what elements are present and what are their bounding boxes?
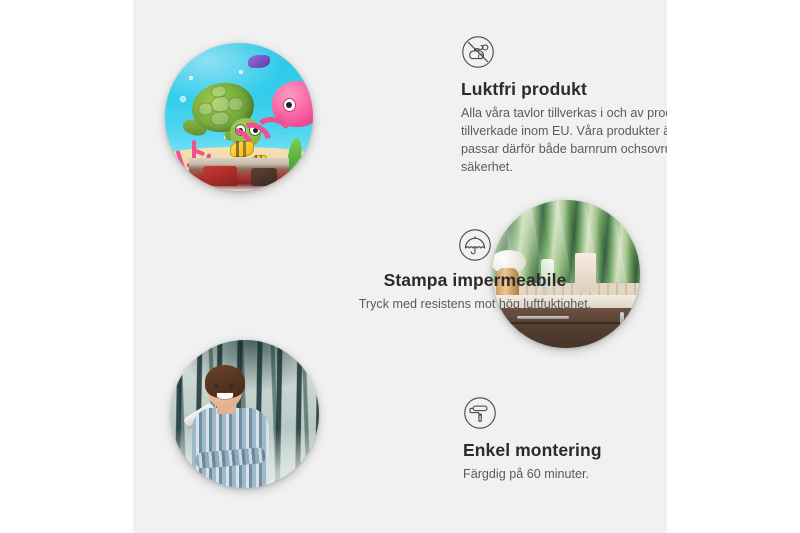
eye — [214, 384, 219, 387]
bubble-icon — [180, 96, 186, 102]
bubble-icon — [189, 76, 193, 80]
feature-assembly: Enkel montering Färgdig på 60 minuter. — [463, 396, 667, 484]
painter-forest-wallpaper-photo[interactable] — [171, 340, 319, 488]
screenshot-canvas: Luktfri produkt Alla våra tavlor tillver… — [0, 0, 800, 533]
feature-title: Enkel montering — [463, 440, 667, 461]
cabinet-handle — [620, 312, 625, 330]
feature-odourless: Luktfri produkt Alla våra tavlor tillver… — [461, 35, 667, 177]
striped-fish-icon — [230, 141, 254, 157]
feature-waterproof: Stampa impermeabile Tryck med resistens … — [345, 228, 605, 314]
eye — [229, 384, 234, 387]
feature-description: Färgdig på 60 minuter. — [463, 466, 667, 484]
feature-panel: Luktfri produkt Alla våra tavlor tillver… — [133, 0, 667, 533]
feature-title: Luktfri produkt — [461, 79, 667, 100]
room-inset-photo — [189, 158, 290, 191]
umbrella-icon — [458, 228, 492, 262]
paint-roller-icon — [463, 396, 497, 430]
feature-title: Stampa impermeabile — [345, 270, 605, 291]
underwater-cartoon-wallpaper-photo[interactable] — [165, 43, 313, 191]
octopus-eye — [283, 98, 296, 112]
wooden-vanity — [495, 308, 640, 348]
drawer-handle — [517, 316, 569, 319]
feature-description: Alla våra tavlor tillverkas i och av pro… — [461, 105, 667, 177]
forest-canopy — [171, 340, 319, 402]
no-perfume-icon — [461, 35, 495, 69]
feature-description: Tryck med resistens mot hög luftfuktighe… — [345, 296, 605, 314]
